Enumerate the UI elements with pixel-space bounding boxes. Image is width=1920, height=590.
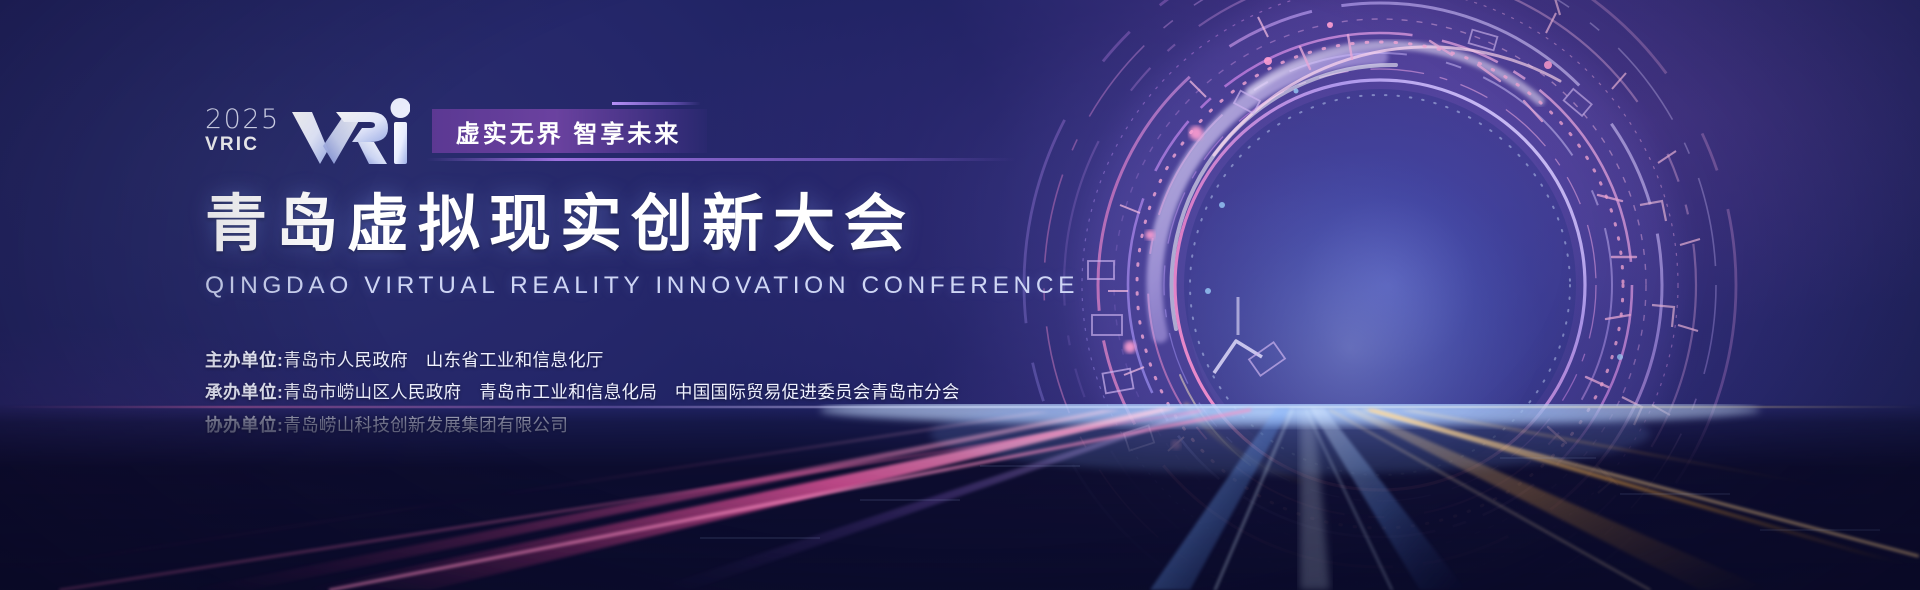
page-title-en: QINGDAO VIRTUAL REALITY INNOVATION CONFE… xyxy=(205,272,1125,300)
organizer-row: 主办单位:青岛市人民政府 山东省工业和信息化厅 xyxy=(205,344,1125,377)
tagline-banner: 虚实无界 智享未来 xyxy=(432,109,708,153)
year-acronym-stack: 2025 VRIC xyxy=(205,106,280,156)
tagline-text: 虚实无界 智享未来 xyxy=(456,114,682,149)
organizer-value: 青岛市崂山区人民政府 青岛市工业和信息化局 中国国际贸易促进委员会青岛市分会 xyxy=(283,382,959,402)
organizer-label: 主办单位: xyxy=(205,350,283,370)
brand-year: 2025 xyxy=(205,106,280,133)
brand-lockup: 2025 VRIC xyxy=(205,100,1125,162)
conference-banner: 2025 VRIC xyxy=(0,0,1920,590)
organizer-label: 承办单位: xyxy=(205,382,283,402)
tagline-bottom-bar xyxy=(426,158,1018,161)
tagline-top-bar xyxy=(612,102,702,105)
banner-content: 2025 VRIC xyxy=(205,100,1125,441)
light-streak-floor xyxy=(0,404,1920,590)
brand-acronym: VRIC xyxy=(205,135,280,154)
organizer-value: 青岛市人民政府 山东省工业和信息化厅 xyxy=(283,350,603,370)
page-title-cn: 青岛虚拟现实创新大会 xyxy=(205,192,1125,258)
vri-wordmark-logo xyxy=(290,98,410,164)
